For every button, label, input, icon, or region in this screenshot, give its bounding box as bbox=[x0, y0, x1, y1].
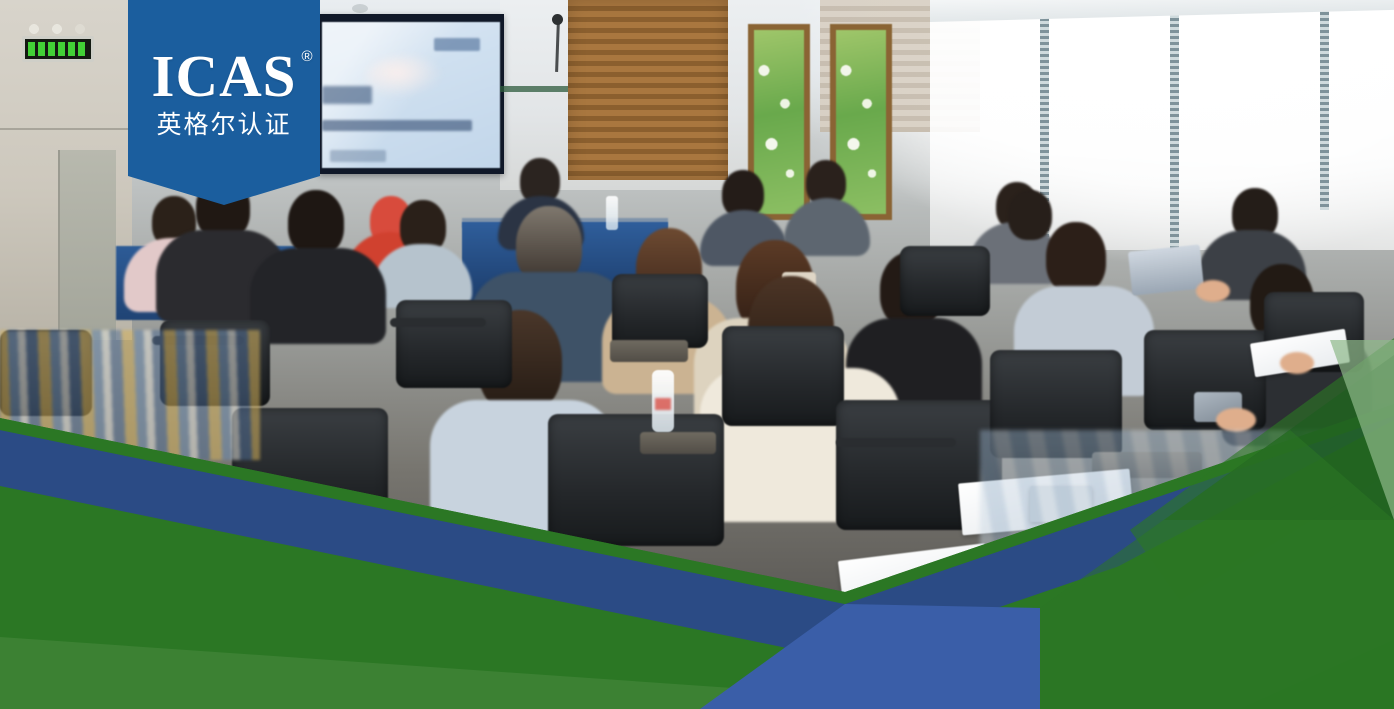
tablet-device bbox=[1128, 244, 1204, 295]
chair bbox=[612, 274, 708, 348]
chair bbox=[722, 326, 844, 426]
writing-tablet bbox=[610, 340, 688, 362]
slide-title-text bbox=[322, 86, 372, 104]
attendee-head bbox=[1046, 222, 1106, 294]
water-bottle bbox=[606, 196, 618, 230]
patterned-carpet bbox=[980, 430, 1394, 660]
slide-footer-text bbox=[330, 150, 386, 162]
hand bbox=[1216, 408, 1256, 432]
ceiling-lamps bbox=[24, 22, 92, 36]
chair bbox=[900, 246, 990, 316]
exit-sign-icon bbox=[22, 36, 94, 62]
window-mullion bbox=[1320, 0, 1329, 210]
chair-arm bbox=[390, 318, 486, 327]
writing-tablet bbox=[640, 432, 716, 454]
water-bottle bbox=[652, 370, 674, 432]
document-papers bbox=[838, 543, 990, 605]
patterned-carpet bbox=[0, 330, 260, 460]
window-blinds-wood bbox=[568, 0, 728, 180]
microphone-head bbox=[552, 14, 563, 25]
icas-chinese-name: 英格尔认证 bbox=[156, 113, 291, 138]
smoke-detector-icon bbox=[352, 4, 368, 13]
hand bbox=[1280, 352, 1314, 374]
screen-light-streak bbox=[366, 56, 444, 98]
left-door bbox=[58, 150, 116, 340]
window-mullion bbox=[1170, 0, 1179, 250]
chair-arm bbox=[836, 438, 956, 447]
hand bbox=[1196, 280, 1230, 302]
hero-banner: ICAS ® 英格尔认证 bbox=[0, 0, 1394, 709]
attendee-head bbox=[1008, 190, 1052, 240]
icas-wordmark: ICAS ® bbox=[152, 48, 297, 105]
wall-seam bbox=[0, 128, 132, 130]
icas-wordmark-text: ICAS bbox=[152, 43, 297, 109]
slide-subtitle-text bbox=[322, 120, 472, 131]
chair bbox=[396, 300, 512, 388]
slide-logo bbox=[434, 38, 480, 51]
registered-trademark-icon: ® bbox=[301, 50, 313, 64]
icas-logo-block: ICAS ® 英格尔认证 bbox=[128, 0, 320, 215]
icas-logo-inner: ICAS ® 英格尔认证 bbox=[128, 0, 320, 176]
attendee-head bbox=[288, 190, 344, 256]
attendee-torso bbox=[250, 248, 386, 344]
